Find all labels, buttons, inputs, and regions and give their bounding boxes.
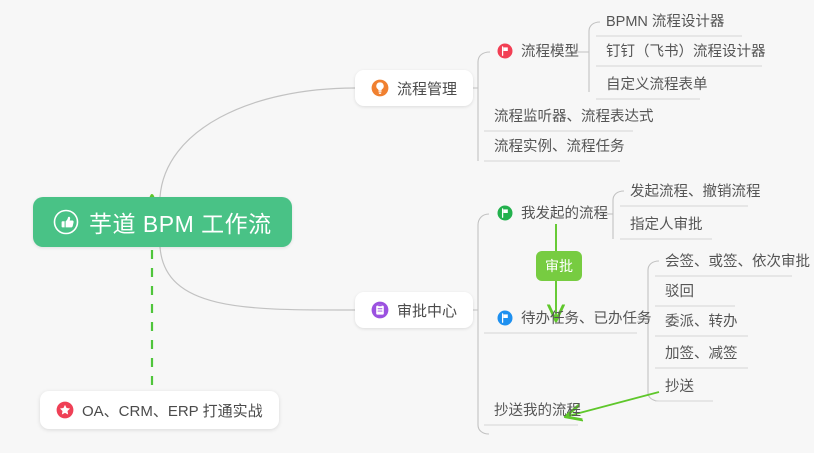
link-ac-top-curve [478,214,489,225]
tag-node-approval[interactable]: 审批 [536,251,582,281]
star-icon [56,401,74,419]
thumbs-up-icon [53,209,79,235]
label-assignee-approval: 指定人审批 [630,213,703,234]
label-delegate: 委派、转办 [665,310,738,331]
clipboard-icon [371,301,389,319]
label-cc: 抄送 [665,375,694,396]
node-bpmn-designer[interactable]: BPMN 流程设计器 [598,9,732,35]
flag-green-icon [497,205,513,221]
root-node[interactable]: 芋道 BPM 工作流 [33,197,292,247]
label-process-model: 流程模型 [521,40,579,61]
node-assignee-approval[interactable]: 指定人审批 [622,212,711,238]
label-start-cancel: 发起流程、撤销流程 [630,180,761,201]
node-add-remove-sign[interactable]: 加签、减签 [657,341,746,367]
node-delegate[interactable]: 委派、转办 [657,309,746,335]
node-start-cancel[interactable]: 发起流程、撤销流程 [622,179,769,205]
link-root-to-process-management [160,88,355,197]
node-my-initiated[interactable]: 我发起的流程 [489,201,616,227]
label-add-remove-sign: 加签、减签 [665,342,738,363]
label-cc-to-me: 抄送我的流程 [494,399,581,420]
flag-red-icon [497,43,513,59]
flag-blue-icon [497,310,513,326]
label-process-listener: 流程监听器、流程表达式 [494,105,654,126]
lightbulb-icon [371,79,389,97]
label-dingtalk-designer: 钉钉（飞书）流程设计器 [606,40,766,61]
callout-label: OA、CRM、ERP 打通实战 [82,400,263,421]
branch-label-process-management: 流程管理 [397,78,457,99]
mindmap-canvas: 芋道 BPM 工作流 OA、CRM、ERP 打通实战 流程管理 [0,0,814,453]
label-process-instance: 流程实例、流程任务 [494,135,625,156]
node-custom-form[interactable]: 自定义流程表单 [598,72,716,98]
node-cc-to-me[interactable]: 抄送我的流程 [486,398,589,424]
tag-label: 审批 [545,256,573,276]
branch-node-approval-center[interactable]: 审批中心 [355,292,473,328]
label-reject: 驳回 [665,280,694,301]
node-process-instance[interactable]: 流程实例、流程任务 [486,134,633,160]
label-multi-sign: 会签、或签、依次审批 [665,250,810,271]
link-root-to-approval-center [160,247,355,310]
branch-label-approval-center: 审批中心 [397,300,457,321]
node-dingtalk-designer[interactable]: 钉钉（飞书）流程设计器 [598,39,774,65]
root-label: 芋道 BPM 工作流 [89,205,272,239]
label-bpmn-designer: BPMN 流程设计器 [606,10,724,31]
link-ac-bottom-curve [478,425,489,434]
node-process-model[interactable]: 流程模型 [489,39,587,65]
node-todo-done[interactable]: 待办任务、已办任务 [489,306,660,332]
node-process-listener[interactable]: 流程监听器、流程表达式 [486,104,662,130]
label-todo-done: 待办任务、已办任务 [521,307,652,328]
label-my-initiated: 我发起的流程 [521,202,608,223]
node-cc[interactable]: 抄送 [657,374,702,400]
branch-node-process-management[interactable]: 流程管理 [355,70,473,106]
callout-node-oa-crm-erp[interactable]: OA、CRM、ERP 打通实战 [40,391,279,429]
label-custom-form: 自定义流程表单 [606,73,708,94]
node-reject[interactable]: 驳回 [657,279,702,305]
node-multi-sign[interactable]: 会签、或签、依次审批 [657,249,814,275]
